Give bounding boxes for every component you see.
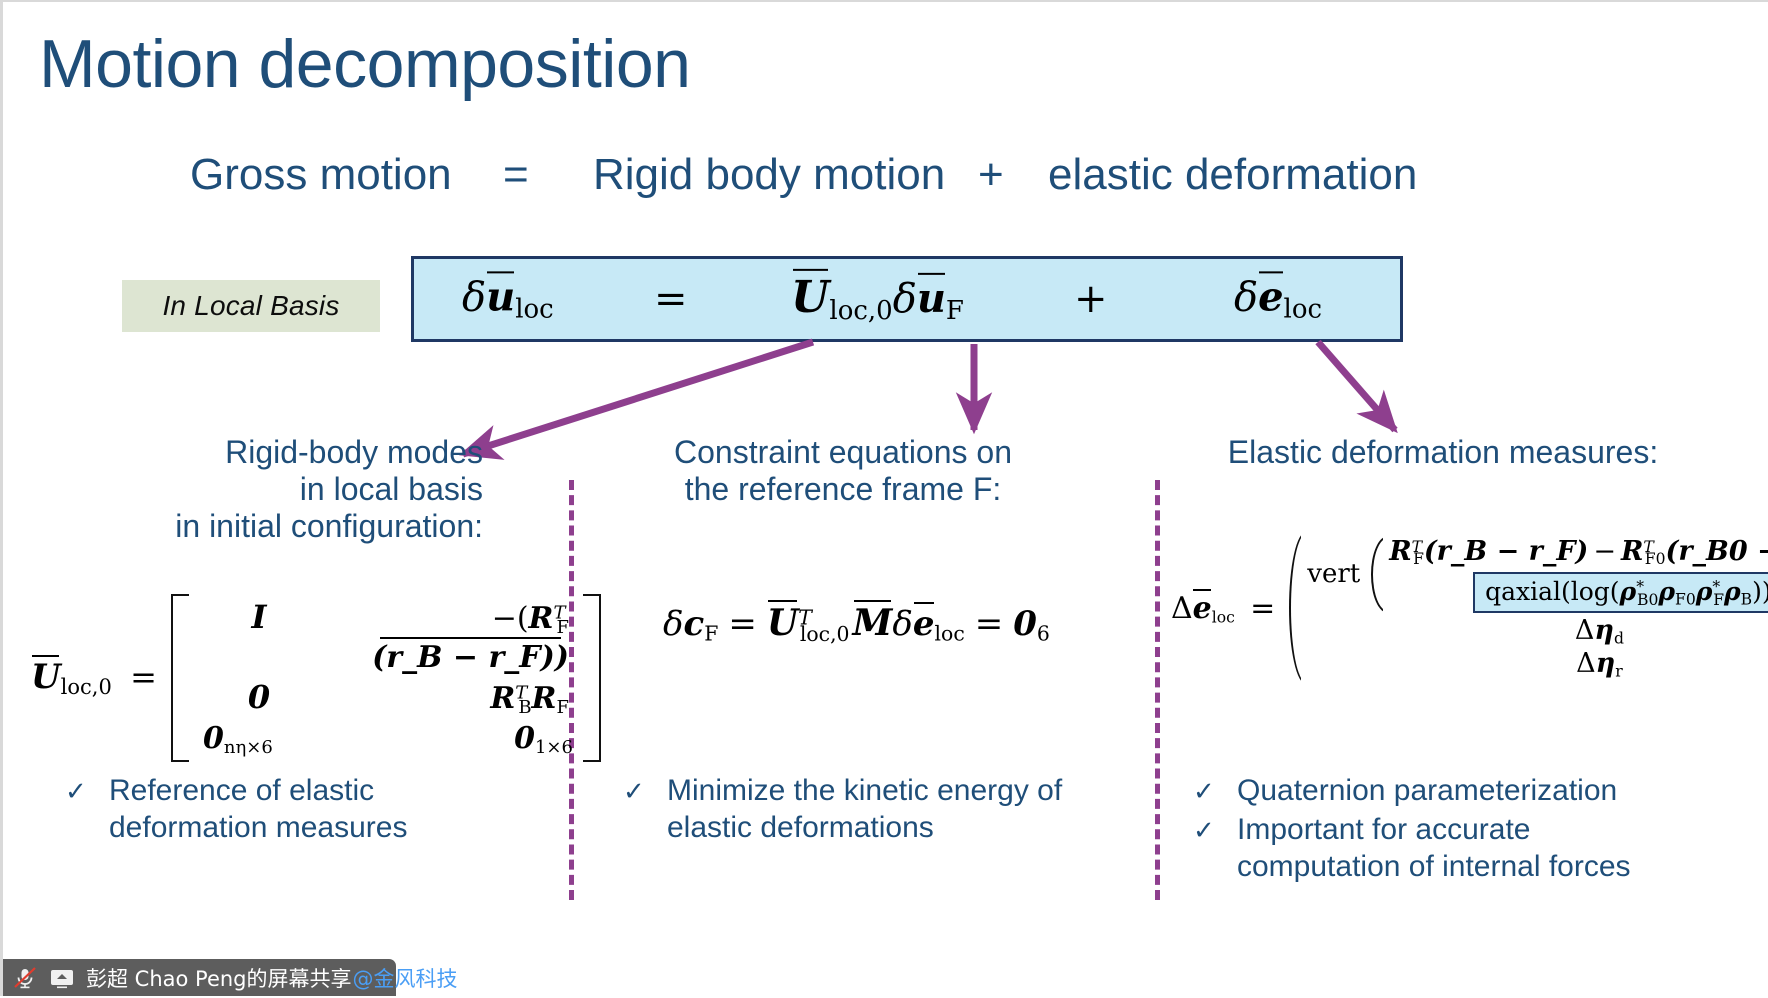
fraction-numerator: RTF(r_B − r_F)−RTF0(r_B0 − r_F0): [1383, 536, 1768, 570]
header-rigid-body: Rigid body motion: [593, 150, 945, 200]
col3-heading: Elastic deformation measures:: [1183, 434, 1703, 471]
col2-e-bar: e: [913, 604, 935, 644]
col2-equals-1: =: [728, 604, 757, 644]
col3-outer-parens: vert RTF(r_B − r_F)−RTF0(r_B0 − r_F0) qa…: [1283, 532, 1768, 684]
rho4-sub: B: [1741, 591, 1752, 609]
matrix-cell-r2c2: RTBRF: [319, 680, 569, 719]
col1-heading: Rigid-body modes in local basis in initi…: [43, 434, 483, 544]
col2-zero-sub: 6: [1037, 622, 1050, 646]
delta-symbol-3: δ: [1234, 274, 1258, 320]
qaxial-close: )): [1752, 577, 1768, 606]
num-body2: (r_B0 − r_F0): [1666, 536, 1768, 567]
col3-e-bar: e: [1193, 591, 1212, 626]
col2-equation: δcF=UTloc,0Mδeloc=06: [663, 602, 1050, 646]
col3-bullets: ✓ Quaternion parameterization ✓ Importan…: [1193, 772, 1663, 888]
left-paren-inner: [1365, 536, 1383, 613]
rho2-sub: F0: [1675, 591, 1696, 609]
rho1: ρ: [1620, 577, 1637, 606]
vert-label: vert: [1307, 559, 1360, 589]
col1-heading-line3: in initial configuration:: [43, 508, 483, 545]
row3-sub: r: [1615, 662, 1622, 680]
col3-equation: Δeloc = vert RTF(r_B − r_F)−RTF0(r_B0 − …: [1171, 532, 1768, 684]
main-eq-plus: +: [1074, 276, 1108, 322]
row2-delta: Δ: [1575, 615, 1595, 646]
zero-1-var: 0: [514, 721, 535, 756]
col1-heading-line2: in local basis: [43, 471, 483, 508]
share-org-tag: @金风科技: [353, 963, 458, 993]
u-bar-var: u: [486, 273, 515, 320]
arrow-to-elastic-icon: [1318, 342, 1395, 430]
col3-equals: =: [1250, 591, 1275, 626]
matrix-cell-zero-1x6: 01×6: [323, 720, 573, 759]
header-elastic-def: elastic deformation: [1048, 150, 1417, 200]
check-icon: ✓: [623, 772, 667, 807]
rho1-sub: B0: [1637, 591, 1658, 609]
list-item: ✓ Important for accurate computation of …: [1193, 811, 1663, 885]
col3-heading-line1: Elastic deformation measures:: [1183, 434, 1703, 471]
list-item: ✓ Minimize the kinetic energy of elastic…: [623, 772, 1093, 846]
check-icon: ✓: [1193, 772, 1237, 807]
matrix-cell-zero: 0: [199, 677, 319, 718]
col1-U-sub: loc,0: [61, 675, 112, 699]
loc0-subscript: loc,0: [829, 296, 892, 326]
main-eq-lhs: δuloc: [462, 273, 554, 324]
num-R2-sub: F0: [1645, 550, 1666, 568]
num-R1: R: [1389, 536, 1411, 567]
check-icon: ✓: [65, 772, 109, 807]
col3-delta: Δ: [1171, 591, 1193, 626]
header-equals-sign: =: [503, 150, 529, 200]
num-R2: R: [1621, 536, 1643, 567]
zero-n-var: 0: [203, 721, 224, 756]
minus-paren: −(: [492, 601, 529, 636]
row3-delta: Δ: [1576, 648, 1596, 679]
bullet-text: Important for accurate computation of in…: [1237, 811, 1663, 885]
matrix-row-2: 0 RTBRF: [199, 677, 573, 719]
col3-inner-parens: RTF(r_B − r_F)−RTF0(r_B0 − r_F0) qaxial(…: [1365, 536, 1768, 613]
main-eq-rhs-term1: Uloc,0δuF: [791, 272, 964, 326]
screen-share-icon[interactable]: [47, 965, 77, 991]
loc-subscript-2: loc: [1284, 295, 1323, 325]
col2-zero: 0: [1013, 604, 1037, 644]
num-body1: (r_B − r_F): [1424, 536, 1588, 567]
rho3-sub: F: [1713, 591, 1724, 609]
matrix-row-1: I −(RTF(r_B − r_F)): [199, 597, 573, 677]
delta-symbol: δ: [462, 274, 486, 320]
RF-var: R: [532, 681, 557, 716]
row2-sub: d: [1614, 629, 1624, 647]
matrix-cell-r1c2: −(RTF(r_B − r_F)): [319, 600, 569, 677]
col2-heading-line2: the reference frame F:: [633, 471, 1053, 508]
column-divider-2: [1155, 480, 1160, 900]
rho3: ρ: [1696, 577, 1713, 606]
col2-equals-2: =: [975, 604, 1004, 644]
col2-delta-2: δ: [892, 604, 912, 644]
col2-c-var: c: [683, 604, 704, 644]
page-title: Motion decomposition: [39, 30, 690, 98]
col2-heading: Constraint equations on the reference fr…: [633, 434, 1053, 508]
microphone-muted-icon[interactable]: [10, 965, 40, 991]
row3-eta: η: [1596, 648, 1616, 679]
main-equation-box: δuloc = Uloc,0δuF + δeloc: [411, 256, 1403, 342]
fraction-denominator: qaxial(log(ρ*B0ρF0ρ*FρB)): [1383, 570, 1768, 612]
zero-1-sub: 1×6: [535, 737, 573, 758]
U-bar-var: U: [791, 272, 829, 323]
screen-share-taskbar[interactable]: 彭超 Chao Peng的屏幕共享 @金风科技: [3, 959, 396, 996]
col2-U-bar: U: [767, 602, 798, 644]
bullet-text: Quaternion parameterization: [1237, 772, 1663, 809]
loc-subscript: loc: [515, 295, 554, 325]
col2-U-sub: loc,0: [800, 622, 850, 646]
list-item: ✓ Reference of elastic deformation measu…: [65, 772, 525, 846]
RF-sub-F: F: [556, 697, 569, 718]
list-item: ✓ Quaternion parameterization: [1193, 772, 1663, 809]
matrix-cell-zero-n: 0nη×6: [199, 720, 323, 759]
qaxial-fn: qaxial(log(: [1485, 577, 1619, 606]
col1-equation: Uloc,0 = I −(RTF(r_B − r_F)) 0 RTBRF: [31, 594, 601, 762]
header-equation-row: Gross motion = Rigid body motion + elast…: [183, 150, 1603, 206]
num-R1-sub: F: [1413, 550, 1424, 568]
col3-fraction: RTF(r_B − r_F)−RTF0(r_B0 − r_F0) qaxial(…: [1383, 536, 1768, 613]
R-var: R: [529, 601, 554, 636]
col2-c-sub: F: [704, 622, 718, 646]
bullet-text: Minimize the kinetic energy of elastic d…: [667, 772, 1093, 846]
rB-minus-rF-tilde: (r_B − r_F)): [372, 639, 569, 677]
qaxial-highlight-box: qaxial(log(ρ*B0ρF0ρ*FρB)): [1473, 572, 1768, 612]
col2-heading-line1: Constraint equations on: [633, 434, 1053, 471]
main-eq-rhs-term2: δeloc: [1234, 273, 1322, 324]
RB-sub-B: B: [518, 697, 531, 718]
col3-row3: Δηr: [1307, 648, 1768, 680]
row2-eta: η: [1594, 615, 1614, 646]
matrix-row-3: 0nη×6 01×6: [199, 720, 573, 759]
share-status-text: 彭超 Chao Peng的屏幕共享: [86, 963, 352, 993]
col3-e-sub: loc: [1212, 608, 1235, 626]
RB-var: R: [490, 681, 515, 716]
header-plus-sign: +: [978, 150, 1004, 200]
col1-heading-line1: Rigid-body modes: [43, 434, 483, 471]
slide-canvas: Motion decomposition Gross motion = Rigi…: [0, 0, 1768, 996]
num-minus: −: [1593, 536, 1616, 567]
col2-M-bar: M: [853, 602, 893, 644]
left-paren-outer: [1283, 532, 1301, 684]
matrix-cell-I: I: [199, 597, 319, 638]
local-basis-tag: In Local Basis: [122, 280, 380, 332]
e-bar-var: e: [1258, 273, 1283, 320]
col1-equals: =: [130, 658, 157, 696]
col2-e-sub: loc: [935, 622, 965, 646]
F-subscript: F: [946, 296, 964, 326]
rho2: ρ: [1658, 577, 1675, 606]
col3-row2: Δηd: [1307, 615, 1768, 647]
delta-symbol-2: δ: [893, 276, 917, 322]
bullet-text: Reference of elastic deformation measure…: [109, 772, 525, 846]
R-sub-F: F: [556, 617, 569, 638]
col2-bullets: ✓ Minimize the kinetic energy of elastic…: [623, 772, 1093, 848]
col2-delta: δ: [663, 604, 683, 644]
check-icon: ✓: [1193, 811, 1237, 846]
col1-bullets: ✓ Reference of elastic deformation measu…: [65, 772, 525, 848]
rho4: ρ: [1724, 577, 1741, 606]
col1-U-bar: U: [31, 657, 61, 697]
col1-matrix: I −(RTF(r_B − r_F)) 0 RTBRF 0nη×6: [189, 594, 583, 762]
main-eq-equals: =: [654, 276, 688, 322]
u-bar-var-2: u: [917, 275, 946, 322]
header-gross-motion: Gross motion: [190, 150, 452, 200]
zero-n-sub: nη×6: [224, 737, 273, 758]
